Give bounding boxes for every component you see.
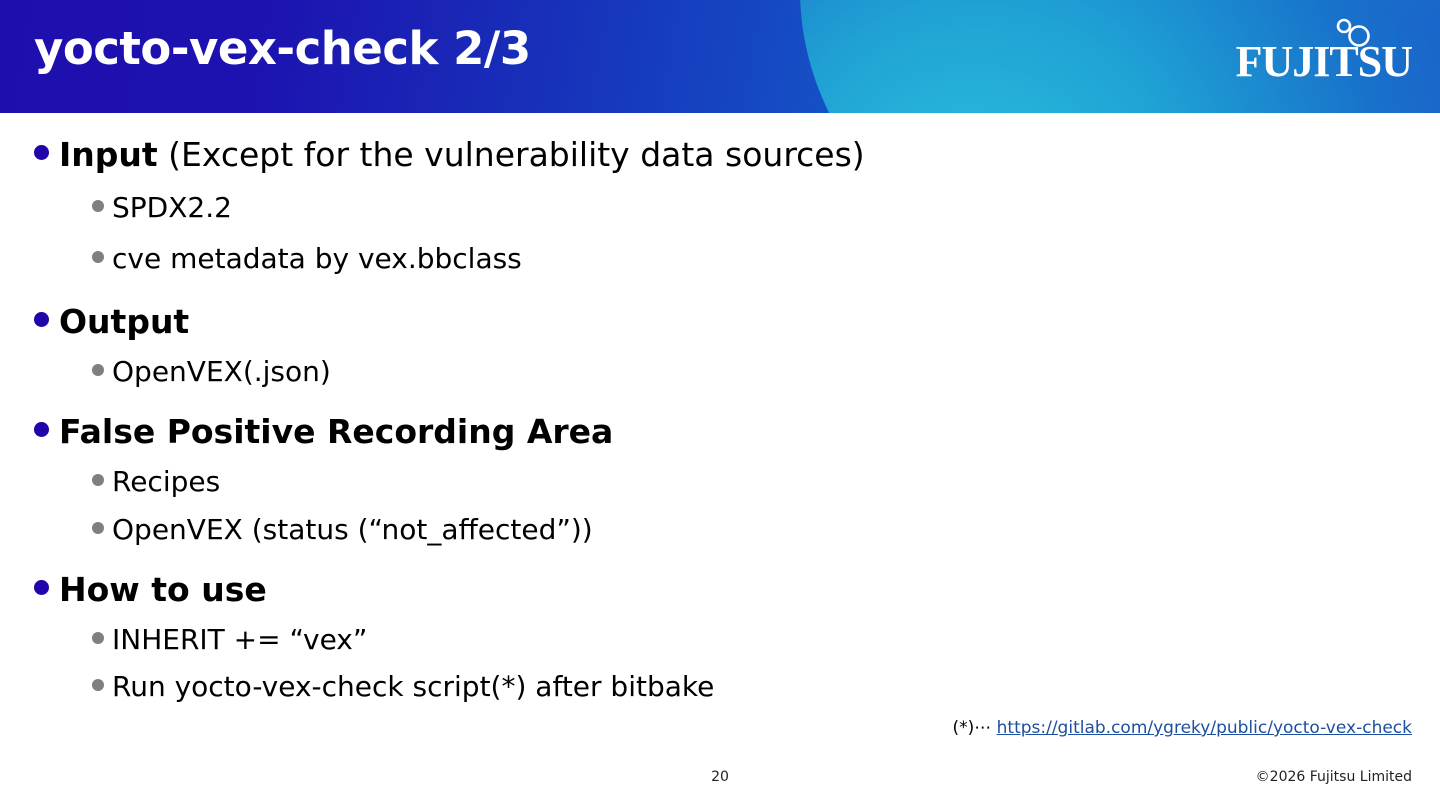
page-number: 20 bbox=[0, 769, 1440, 785]
bullet-item-openvex-status: OpenVEX (status (“not_affected”)) bbox=[92, 513, 593, 546]
page-title: yocto-vex-check 2/3 bbox=[34, 22, 531, 75]
bullet-dot-level2-icon bbox=[92, 200, 104, 212]
slide: yocto-vex-check 2/3 FUJITSU Input (Excep… bbox=[0, 0, 1440, 810]
bullet-item-recipes: Recipes bbox=[92, 465, 220, 498]
bullet-text: Output bbox=[59, 302, 189, 341]
bullet-text: Run yocto-vex-check script(*) after bitb… bbox=[112, 670, 714, 703]
bullet-item-input: Input (Except for the vulnerability data… bbox=[34, 135, 865, 174]
bullet-text-bold: Output bbox=[59, 302, 189, 341]
bullet-text: SPDX2.2 bbox=[112, 191, 232, 224]
fujitsu-logo: FUJITSU bbox=[1232, 14, 1412, 90]
bullet-item-cve-metadata: cve metadata by vex.bbclass bbox=[92, 242, 522, 275]
bullet-dot-level1-icon bbox=[34, 422, 49, 437]
bullet-text-bold: How to use bbox=[59, 570, 267, 609]
bullet-item-openvex-json: OpenVEX(.json) bbox=[92, 355, 331, 388]
bullet-dot-level2-icon bbox=[92, 522, 104, 534]
footnote-marker: (*)⋯ bbox=[952, 718, 996, 738]
bullet-dot-level2-icon bbox=[92, 474, 104, 486]
bullet-text-bold: False Positive Recording Area bbox=[59, 412, 613, 451]
bullet-item-run-script: Run yocto-vex-check script(*) after bitb… bbox=[92, 670, 714, 703]
bullet-text: How to use bbox=[59, 570, 267, 609]
slide-body: Input (Except for the vulnerability data… bbox=[0, 113, 1440, 703]
bullet-text: OpenVEX(.json) bbox=[112, 355, 331, 388]
slide-header: yocto-vex-check 2/3 FUJITSU bbox=[0, 0, 1440, 113]
fujitsu-wordmark: FUJITSU bbox=[1232, 40, 1412, 84]
bullet-text: cve metadata by vex.bbclass bbox=[112, 242, 522, 275]
bullet-dot-level1-icon bbox=[34, 312, 49, 327]
copyright-notice: ©2026 Fujitsu Limited bbox=[1256, 769, 1412, 785]
bullet-dot-level2-icon bbox=[92, 679, 104, 691]
bullet-item-how-to-use: How to use bbox=[34, 570, 267, 609]
bullet-text: OpenVEX (status (“not_affected”)) bbox=[112, 513, 593, 546]
bullet-item-false-positive-area: False Positive Recording Area bbox=[34, 412, 613, 451]
bullet-dot-level2-icon bbox=[92, 251, 104, 263]
footnote-link[interactable]: https://gitlab.com/ygreky/public/yocto-v… bbox=[997, 718, 1412, 738]
bullet-text-rest: (Except for the vulnerability data sourc… bbox=[158, 135, 865, 174]
bullet-dot-level1-icon bbox=[34, 145, 49, 160]
bullet-item-inherit-vex: INHERIT += “vex” bbox=[92, 623, 367, 656]
bullet-dot-level1-icon bbox=[34, 580, 49, 595]
bullet-text: INHERIT += “vex” bbox=[112, 623, 367, 656]
bullet-text: False Positive Recording Area bbox=[59, 412, 613, 451]
bullet-item-spdx: SPDX2.2 bbox=[92, 191, 232, 224]
bullet-text: Recipes bbox=[112, 465, 220, 498]
bullet-item-output: Output bbox=[34, 302, 189, 341]
bullet-dot-level2-icon bbox=[92, 364, 104, 376]
bullet-text: Input (Except for the vulnerability data… bbox=[59, 135, 865, 174]
bullet-text-bold: Input bbox=[59, 135, 158, 174]
footnote: (*)⋯ https://gitlab.com/ygreky/public/yo… bbox=[952, 718, 1412, 738]
bullet-dot-level2-icon bbox=[92, 632, 104, 644]
